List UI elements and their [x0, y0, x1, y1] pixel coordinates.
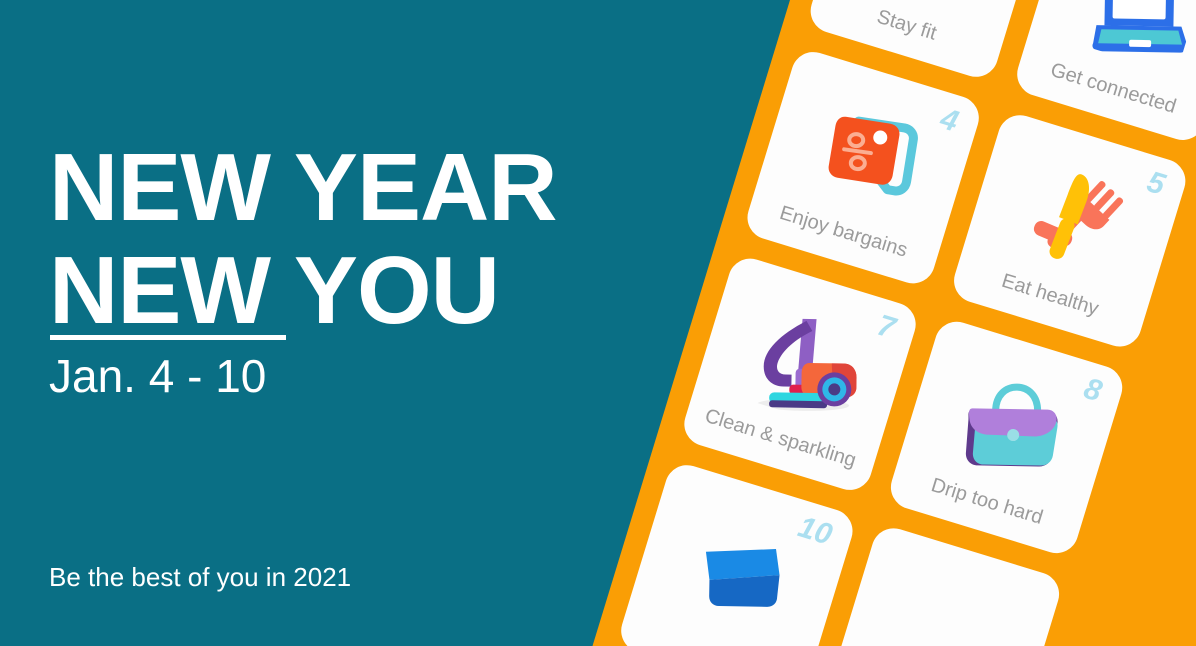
blue-shape-icon — [632, 488, 849, 646]
tile-clean-sparkling[interactable]: 7 — [679, 253, 921, 495]
promo-banner: 1 — [0, 0, 1196, 646]
rotated-tile-panel: 1 — [539, 0, 1196, 646]
tile-enjoy-bargains[interactable]: 4 Enjoy ba — [742, 47, 984, 289]
tile-grid: 1 — [539, 0, 1196, 646]
rotated-tile-panel-clip: 1 — [0, 0, 1196, 646]
tile-eat-healthy[interactable]: 5 — [949, 110, 1191, 352]
tile-ten[interactable]: 10 — [616, 460, 858, 646]
tile-drip-too-hard[interactable]: 8 Drip too hard — [885, 316, 1127, 558]
